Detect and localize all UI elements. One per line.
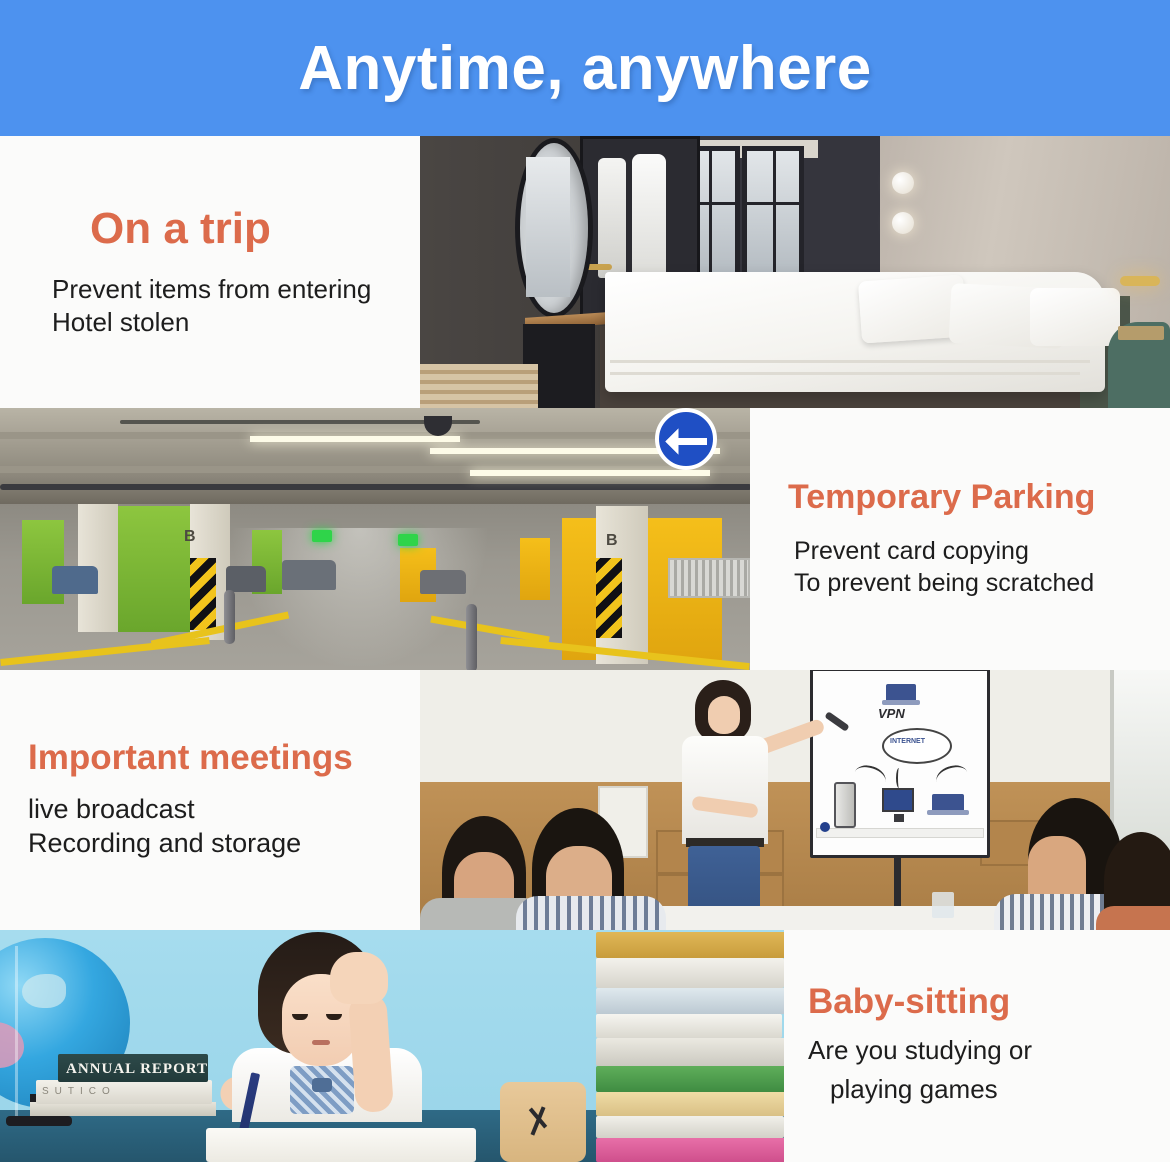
hotel-bathrobe-1 — [598, 158, 626, 278]
whiteboard-cloud-label: INTERNET — [890, 738, 925, 745]
hotel-wall-light-2 — [892, 212, 914, 234]
section-line-meetings-1: live broadcast — [28, 792, 422, 827]
whiteboard-cloud-icon — [882, 728, 952, 764]
page-header-banner: Anytime, anywhere — [0, 0, 1170, 136]
desk-book-bottom — [30, 1102, 216, 1116]
garage-hazard-stripe-1 — [190, 558, 216, 630]
stack-book-6 — [596, 1066, 786, 1092]
page-title: Anytime, anywhere — [298, 33, 872, 104]
desk-book-title-label: ANNUAL REPORT — [66, 1061, 208, 1078]
child-studying-image: SUTICO ANNUAL REPORT — [0, 930, 790, 1162]
child-bow-knot — [312, 1078, 332, 1092]
open-notebook — [206, 1128, 476, 1162]
section-temporary-parking-text: Temporary Parking Prevent card copying T… — [750, 408, 1170, 670]
whiteboard-server-icon — [834, 782, 856, 828]
whiteboard-laptop-top-icon — [886, 684, 916, 702]
section-heading-temporary-parking: Temporary Parking — [788, 479, 1170, 516]
meeting-whiteboard-tray — [816, 828, 984, 838]
garage-car-1 — [282, 560, 336, 590]
whiteboard-laptop-bottom-icon — [932, 794, 964, 812]
garage-bollard-1 — [224, 590, 235, 644]
section-heading-important-meetings: Important meetings — [28, 739, 422, 778]
child-hand-on-head — [330, 952, 388, 1004]
section-important-meetings-text: Important meetings live broadcast Record… — [0, 670, 422, 930]
attendee-2-shirt — [516, 896, 666, 930]
garage-pillar-label-right: B — [606, 532, 618, 550]
section-line-on-a-trip-2: Hotel stolen — [52, 306, 422, 339]
garage-car-2 — [52, 566, 98, 594]
stack-book-5 — [596, 1038, 790, 1066]
garage-luggage-carts — [668, 558, 750, 598]
section-heading-on-a-trip: On a trip — [90, 205, 422, 253]
child-mouth — [312, 1040, 330, 1045]
section-line-parking-1: Prevent card copying — [788, 535, 1170, 567]
garage-pipe-main — [0, 484, 752, 490]
whiteboard-arrow-2 — [896, 768, 902, 788]
section-heading-baby-sitting: Baby-sitting — [808, 983, 1170, 1022]
garage-car-3 — [226, 566, 266, 592]
meeting-whiteboard-magnet — [820, 822, 830, 832]
garage-bollard-2 — [466, 604, 477, 670]
section-line-baby-2: playing games — [808, 1070, 1170, 1109]
garage-green-wall-1 — [108, 506, 190, 632]
stack-book-2 — [596, 958, 784, 988]
hotel-bed-fold-2 — [610, 372, 1080, 375]
stack-book-4 — [596, 1014, 782, 1038]
meeting-room-image: VPN INTERNET — [420, 670, 1170, 930]
meeting-water-glass — [932, 892, 954, 918]
presenter-face — [708, 696, 740, 734]
garage-light-strip-3 — [470, 470, 710, 476]
left-turn-arrow-sign-icon — [655, 408, 717, 470]
book-stack — [596, 930, 790, 1162]
section-baby-sitting-text: Baby-sitting Are you studying or playing… — [784, 930, 1170, 1162]
presenter-blouse — [682, 736, 768, 844]
stack-book-1 — [596, 932, 790, 958]
child-right-arm — [348, 993, 394, 1113]
hotel-oval-mirror — [515, 138, 593, 318]
globe-base — [6, 1116, 72, 1126]
hotel-bench — [420, 364, 538, 408]
garage-exit-sign-1 — [312, 530, 332, 542]
hotel-nightstand-book — [1118, 326, 1164, 340]
promo-page: Anytime, anywhere On a trip Prevent item… — [0, 0, 1170, 1162]
stack-book-8 — [596, 1116, 784, 1138]
stack-book-3 — [596, 988, 790, 1014]
garage-light-strip-1 — [250, 436, 460, 442]
hotel-bedside-lamp — [1120, 276, 1160, 286]
section-line-meetings-2: Recording and storage — [28, 826, 422, 861]
whiteboard-vpn-label: VPN — [878, 706, 905, 721]
garage-exit-sign-2 — [398, 534, 418, 546]
garage-hazard-stripe-2 — [596, 558, 622, 638]
garage-car-4 — [420, 570, 466, 594]
whiteboard-monitor-icon — [882, 788, 914, 812]
hotel-pillow-3 — [1030, 288, 1120, 346]
section-on-a-trip-text: On a trip Prevent items from entering Ho… — [0, 136, 422, 408]
hotel-wall-light-1 — [892, 172, 914, 194]
garage-pillar-label-left: B — [184, 528, 196, 546]
attendee-4-shirt — [1096, 906, 1170, 930]
section-line-baby-1: Are you studying or — [808, 1031, 1170, 1070]
desk-book-imprint-label: SUTICO — [42, 1086, 116, 1097]
hotel-bed-fold-1 — [610, 360, 1090, 363]
section-line-on-a-trip-1: Prevent items from entering — [52, 273, 422, 306]
section-line-parking-2: To prevent being scratched — [788, 567, 1170, 599]
parking-garage-image: B B — [0, 408, 752, 670]
stack-book-7 — [596, 1092, 790, 1116]
hotel-room-image — [420, 136, 1170, 408]
stack-book-9 — [596, 1138, 790, 1162]
garage-yellow-wall-3 — [520, 538, 550, 600]
